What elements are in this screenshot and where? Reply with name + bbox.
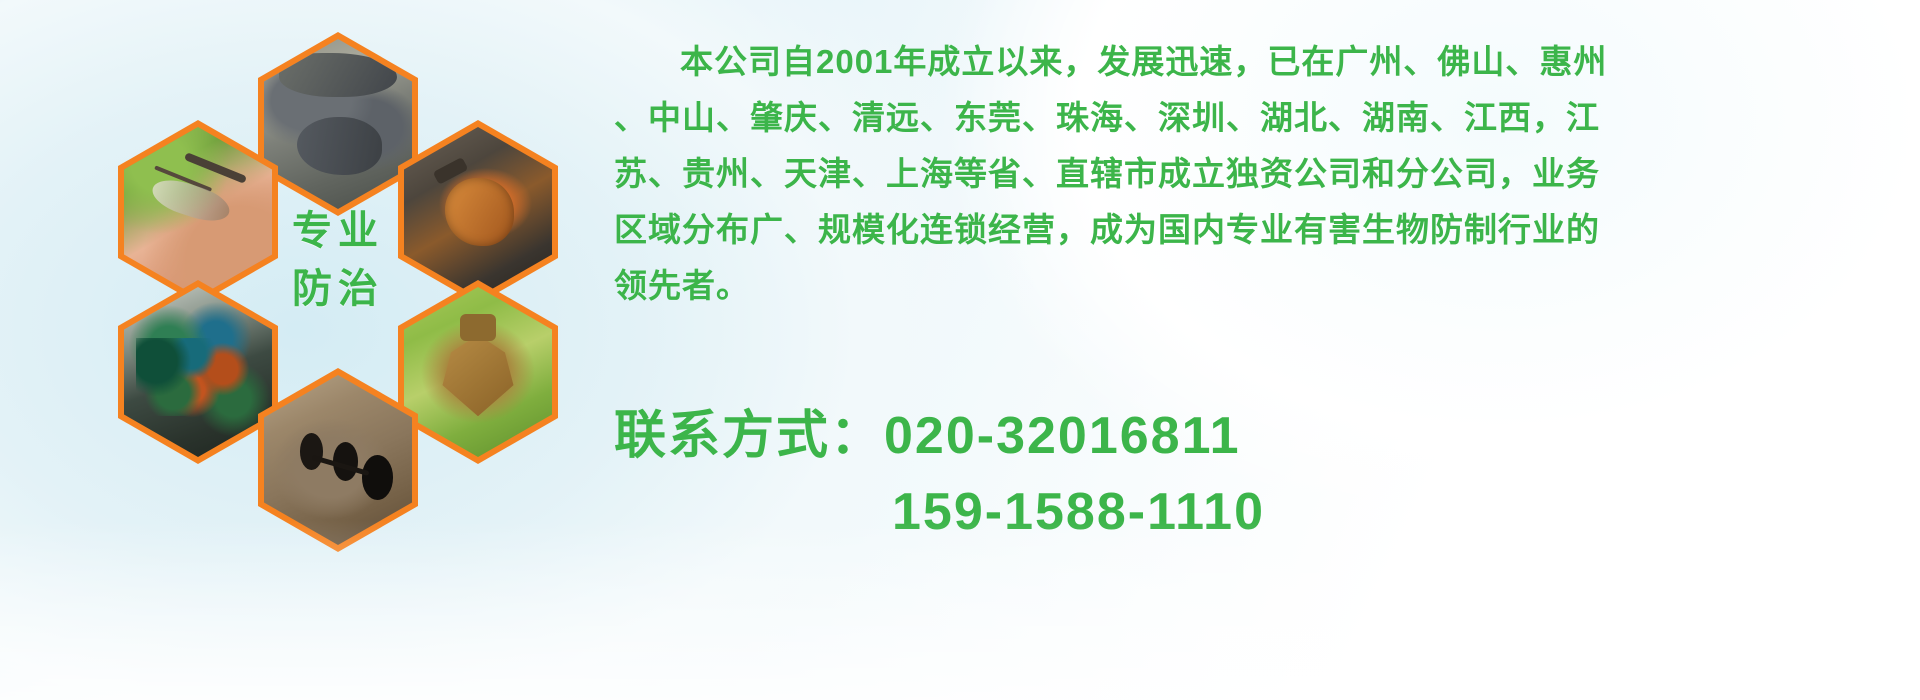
contact-phone-primary[interactable]: 联系方式：020-32016811 [614,398,1904,474]
hex-photo-cockroach [398,120,558,304]
hexagon-photo-cluster: 专业 防治 [78,8,598,588]
mosquito-icon [124,127,272,297]
company-description: 本公司自2001年成立以来，发展迅速，已在广州、佛山、惠州 、中山、肇庆、清远、… [614,34,1904,314]
description-line-4: 区域分布广、规模化连锁经营，成为国内专业有害生物防制行业的 [614,202,1904,258]
description-line-1: 本公司自2001年成立以来，发展迅速，已在广州、佛山、惠州 [614,34,1904,90]
cockroach-icon [404,127,552,297]
hex-photo-fly [118,280,278,464]
hex-badge-slogan: 专业 防治 [258,168,418,352]
slogan-line-1: 专业 [292,202,384,260]
ant-icon [264,375,412,545]
hex-photo-ant [258,368,418,552]
hex-photo-stink-bug [398,280,558,464]
hex-photo-stink-bug-image [404,287,552,457]
description-line-5: 领先者。 [614,258,1904,314]
description-line-2: 、中山、肇庆、清远、东莞、珠海、深圳、湖北、湖南、江西，江 [614,90,1904,146]
hex-photo-cockroach-image [404,127,552,297]
description-line-3: 苏、贵州、天津、上海等省、直辖市成立独资公司和分公司，业务 [614,146,1904,202]
hex-photo-fly-image [124,287,272,457]
slogan-line-2: 防治 [292,260,384,318]
hex-photo-mosquito [118,120,278,304]
contact-block: 联系方式：020-32016811 159-1588-1110 [614,398,1904,550]
hex-photo-ant-image [264,375,412,545]
fly-icon [124,287,272,457]
stink-bug-icon [404,287,552,457]
contact-phone-secondary[interactable]: 159-1588-1110 [614,474,1904,550]
slogan-text: 专业 防治 [258,168,418,352]
hex-photo-mosquito-image [124,127,272,297]
pest-control-banner: 专业 防治 本公司自2001年成立以来，发展迅速，已在广州、佛山、惠州 、中山、… [0,0,1920,700]
